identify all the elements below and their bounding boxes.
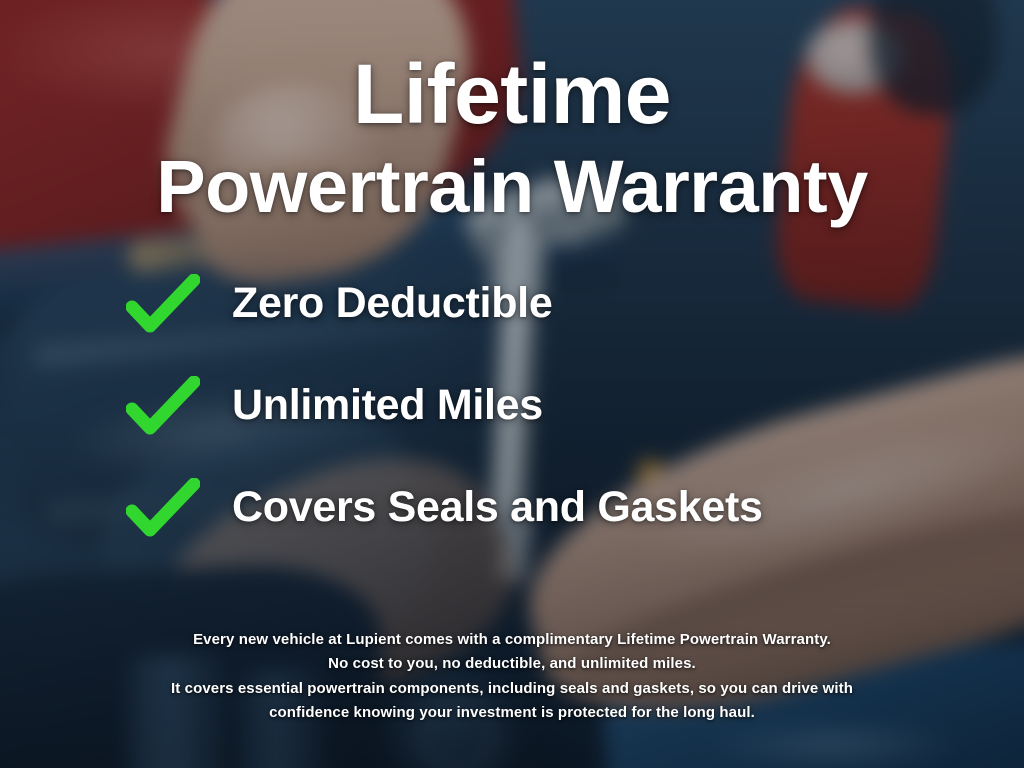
paragraph-line: It covers essential powertrain component…	[86, 677, 938, 701]
benefit-item-unlimited-miles: Unlimited Miles	[126, 376, 1024, 436]
green-check-icon	[126, 376, 200, 436]
green-check-icon	[126, 274, 200, 334]
paragraph-line: confidence knowing your investment is pr…	[86, 701, 938, 725]
benefit-label: Unlimited Miles	[232, 383, 543, 428]
benefit-label: Zero Deductible	[232, 281, 552, 326]
benefit-item-zero-deductible: Zero Deductible	[126, 274, 1024, 334]
benefits-list: Zero Deductible Unlimited Miles Covers S…	[0, 274, 1024, 538]
paragraph-line: No cost to you, no deductible, and unlim…	[86, 652, 938, 676]
warranty-promo-banner: Lifetime Powertrain Warranty Zero Deduct…	[0, 0, 1024, 768]
banner-content: Lifetime Powertrain Warranty Zero Deduct…	[0, 0, 1024, 768]
headline-line-1: Lifetime	[353, 52, 671, 136]
description-paragraph: Every new vehicle at Lupient comes with …	[0, 628, 1024, 725]
paragraph-line: Every new vehicle at Lupient comes with …	[86, 628, 938, 652]
benefit-label: Covers Seals and Gaskets	[232, 485, 763, 530]
benefit-item-covers-seals-and-gaskets: Covers Seals and Gaskets	[126, 478, 1024, 538]
green-check-icon	[126, 478, 200, 538]
headline-line-2: Powertrain Warranty	[156, 150, 868, 224]
